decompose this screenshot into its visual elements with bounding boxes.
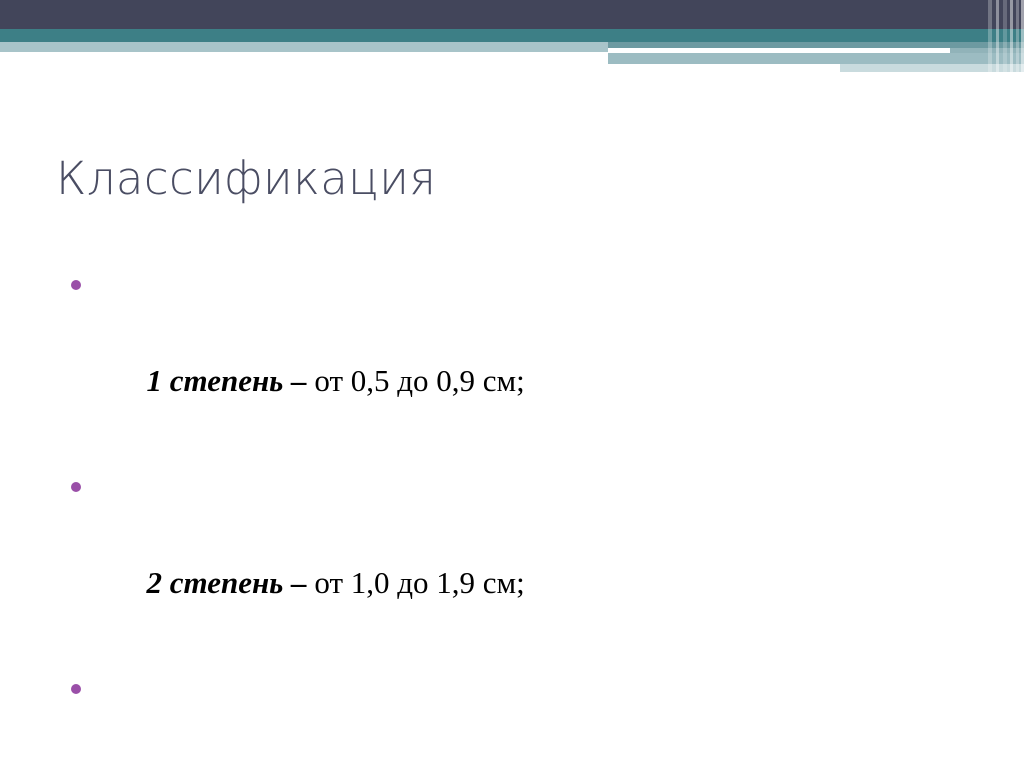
slide-canvas: Классификация 1 степень – от 0,5 до 0,9 … (0, 0, 1024, 767)
header-band-teal (0, 29, 1024, 42)
list-item-rest: от 1,0 до 1,9 см; (307, 565, 525, 600)
header-band-pale-left (0, 42, 608, 52)
list-item: 3 степень – более 2 см. (62, 662, 962, 767)
header-vertical-stripe-5 (1016, 0, 1019, 72)
header-vertical-stripe-1 (988, 0, 992, 72)
bullet-dot-icon (71, 482, 81, 492)
list-item: 2 степень – от 1,0 до 1,9 см; (62, 460, 962, 656)
header-band-right-lower (608, 53, 1024, 64)
list-item-lead: 2 степень – (147, 565, 307, 600)
list-item-rest: от 0,5 до 0,9 см; (307, 363, 525, 398)
bullet-dot-icon (71, 280, 81, 290)
header-band-dark (0, 0, 1024, 29)
header-vertical-stripe-2 (996, 0, 999, 72)
slide-title: Классификация (56, 152, 436, 205)
header-vertical-stripe-4 (1010, 0, 1013, 72)
header-decoration (0, 0, 1024, 72)
bullet-dot-icon (71, 684, 81, 694)
list-item: 1 степень – от 0,5 до 0,9 см; (62, 258, 962, 454)
content-bullet-list: 1 степень – от 0,5 до 0,9 см; 2 степень … (62, 258, 962, 767)
header-vertical-stripe-3 (1003, 0, 1007, 72)
list-item-lead: 1 степень – (147, 363, 307, 398)
